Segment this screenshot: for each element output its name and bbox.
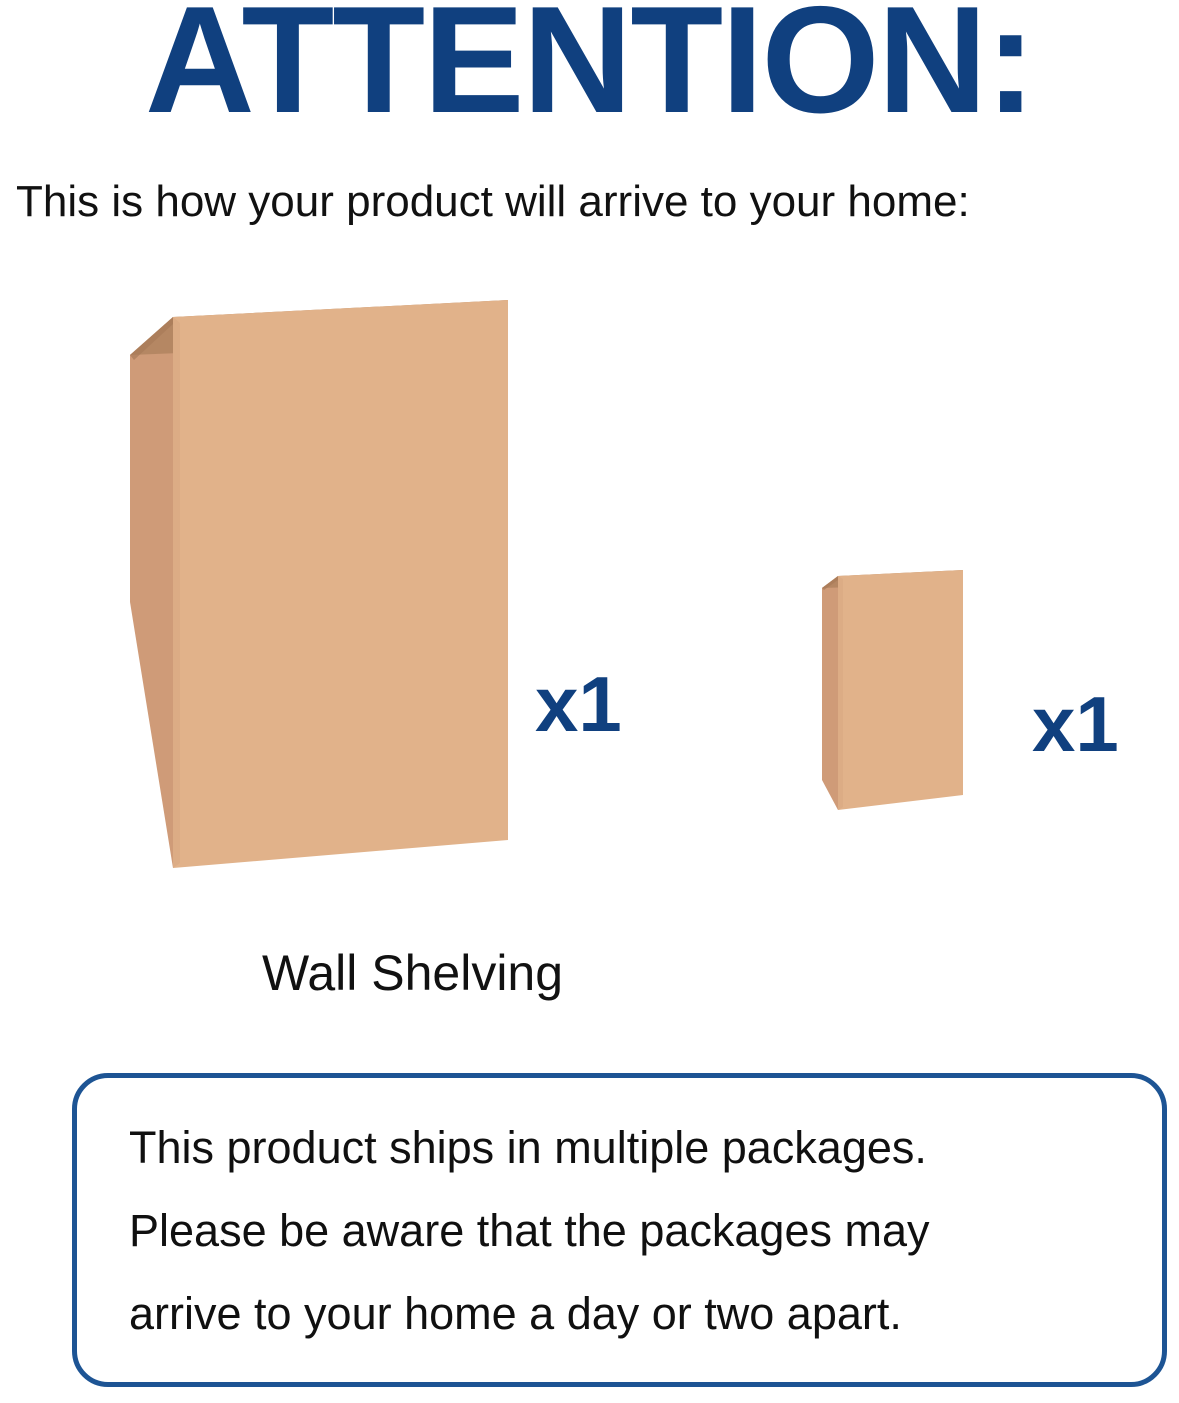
page-title: ATTENTION: [0,0,1179,136]
notice-line-2: Please be aware that the packages may [129,1189,1129,1272]
package-item-wall-shelving: Wall Shelving [110,300,530,900]
package-quantity-hook: x1 [1032,685,1119,763]
notice-line-1: This product ships in multiple packages. [129,1106,1129,1189]
packages-illustration: Wall Shelving x1 Hook x1 [0,280,1179,1020]
package-item-hook: Hook [800,570,1000,850]
page-subtitle: This is how your product will arrive to … [16,178,970,226]
shipping-notice-text: This product ships in multiple packages.… [129,1106,1129,1355]
notice-line-3: arrive to your home a day or two apart. [129,1272,1129,1355]
package-caption-wall-shelving: Wall Shelving [262,948,563,998]
package-quantity-wall-shelving: x1 [535,665,622,743]
cardboard-box-icon-small [800,570,1000,850]
cardboard-box-icon-large [110,300,530,900]
shipping-notice-box: This product ships in multiple packages.… [72,1073,1167,1387]
